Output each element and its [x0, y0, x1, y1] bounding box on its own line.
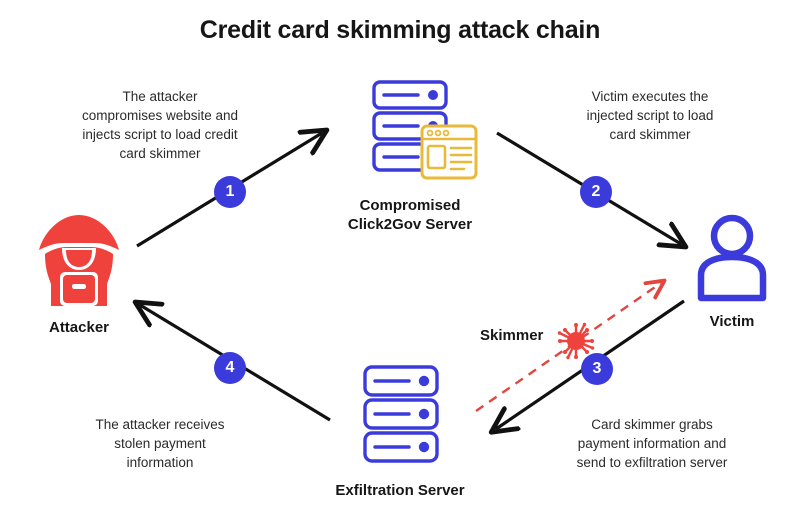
step-badge-4: 4 — [214, 352, 246, 384]
server-stack-with-browser-window-icon — [340, 78, 480, 188]
caption-step-3: Card skimmer grabs payment information a… — [542, 415, 762, 472]
node-exfiltration-server: Exfiltration Server — [300, 363, 500, 501]
step-badge-1: 1 — [214, 176, 246, 208]
node-victim-label: Victim — [672, 313, 792, 332]
node-compromised-server: Compromised Click2Gov Server — [310, 78, 510, 235]
attack-chain-diagram: Credit card skimming attack chain — [0, 0, 800, 519]
skimmer-label: Skimmer — [480, 327, 543, 344]
caption-step-1: The attacker compromises website and inj… — [52, 87, 268, 164]
node-attacker: Attacker — [14, 210, 144, 338]
caption-step-2: Victim executes the injected script to l… — [542, 87, 758, 144]
node-exfiltration-server-label: Exfiltration Server — [300, 482, 500, 501]
attacker-hooded-figure-icon — [29, 210, 129, 310]
server-stack-icon — [345, 363, 455, 473]
step-badge-2: 2 — [580, 176, 612, 208]
person-user-icon — [686, 212, 778, 304]
step-badge-3: 3 — [581, 353, 613, 385]
node-attacker-label: Attacker — [14, 319, 144, 338]
node-compromised-server-label: Compromised Click2Gov Server — [310, 197, 510, 235]
caption-step-4: The attacker receives stolen payment inf… — [52, 415, 268, 472]
node-victim: Victim — [672, 212, 792, 332]
